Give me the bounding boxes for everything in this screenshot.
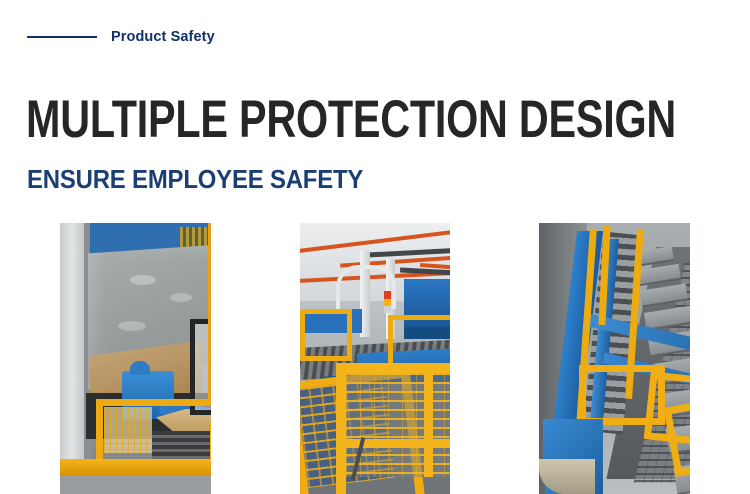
photo-1-scene: [60, 223, 211, 494]
photo-3-scene: [539, 223, 690, 494]
product-safety-banner: Product Safety MULTIPLE PROTECTION DESIG…: [0, 0, 750, 491]
yellow-front-rail: [60, 459, 211, 476]
yellow-safety-rail: [300, 309, 352, 361]
panel-highlight: [130, 275, 156, 285]
page-subtitle: ENSURE EMPLOYEE SAFETY: [27, 165, 363, 193]
photo-factory-floor-safety-fence: Wide factory floor view with blue convey…: [300, 223, 451, 494]
panel-highlight: [118, 321, 146, 331]
blue-actuator-cap: [130, 361, 150, 375]
photo-2-scene: [300, 223, 451, 494]
ladder-rung: [208, 249, 211, 257]
panel-highlight: [170, 293, 192, 302]
yellow-safety-rail: [388, 315, 451, 369]
eyebrow: Product Safety: [27, 28, 215, 46]
stack-light-red: [384, 291, 391, 299]
eyebrow-label: Product Safety: [111, 29, 215, 45]
eyebrow-rule-icon: [27, 36, 97, 38]
photo-elevated-conveyor-walkway: Elevated view of a conveyor line carryin…: [539, 223, 690, 494]
page-title: MULTIPLE PROTECTION DESIGN: [26, 93, 676, 146]
safety-gate-mesh: [104, 407, 152, 453]
photo-gallery: Industrial machine tilting a large gray …: [20, 207, 730, 478]
fence-divider-post: [424, 373, 433, 477]
yellow-safety-ladder: [208, 223, 211, 405]
safety-fence-mesh: [346, 373, 451, 477]
foreground-floor: [60, 476, 211, 494]
ladder-rung: [208, 301, 211, 309]
photo-tilting-concrete-panel: Industrial machine tilting a large gray …: [60, 223, 211, 494]
stack-light-amber: [384, 299, 391, 306]
ladder-rung: [208, 351, 211, 359]
grating-strip: [180, 227, 211, 247]
